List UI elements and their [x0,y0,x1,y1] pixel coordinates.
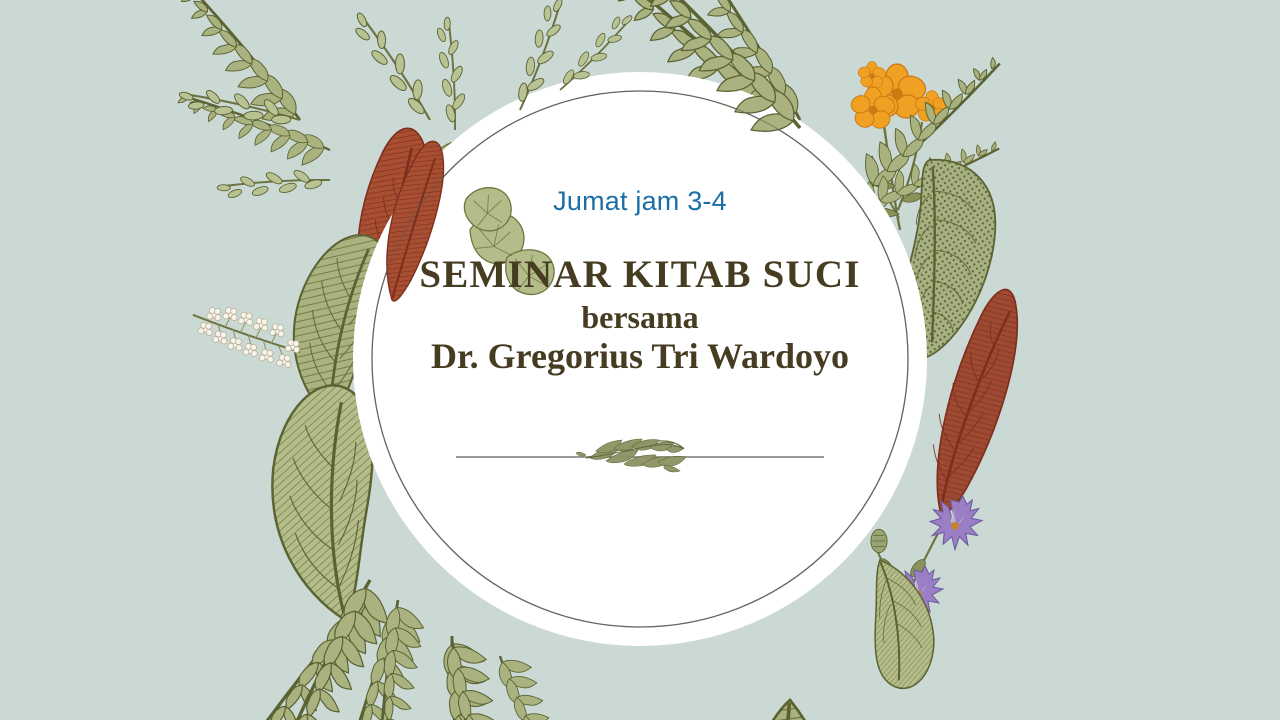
session-time-label: Jumat jam 3-4 [360,185,920,217]
leaf-sprig-ornament [576,439,686,472]
presenter-name-label: Dr. Gregorius Tri Wardoyo [360,336,920,378]
cornflower-bud [871,529,887,552]
divider-ornament [456,432,824,478]
presentation-slide: Jumat jam 3-4 SEMINAR KITAB SUCI bersama… [0,0,1280,720]
presenter-prefix-label: bersama [360,299,920,336]
slide-text-block: Jumat jam 3-4 SEMINAR KITAB SUCI bersama… [360,185,920,378]
page-title: SEMINAR KITAB SUCI [360,253,920,297]
